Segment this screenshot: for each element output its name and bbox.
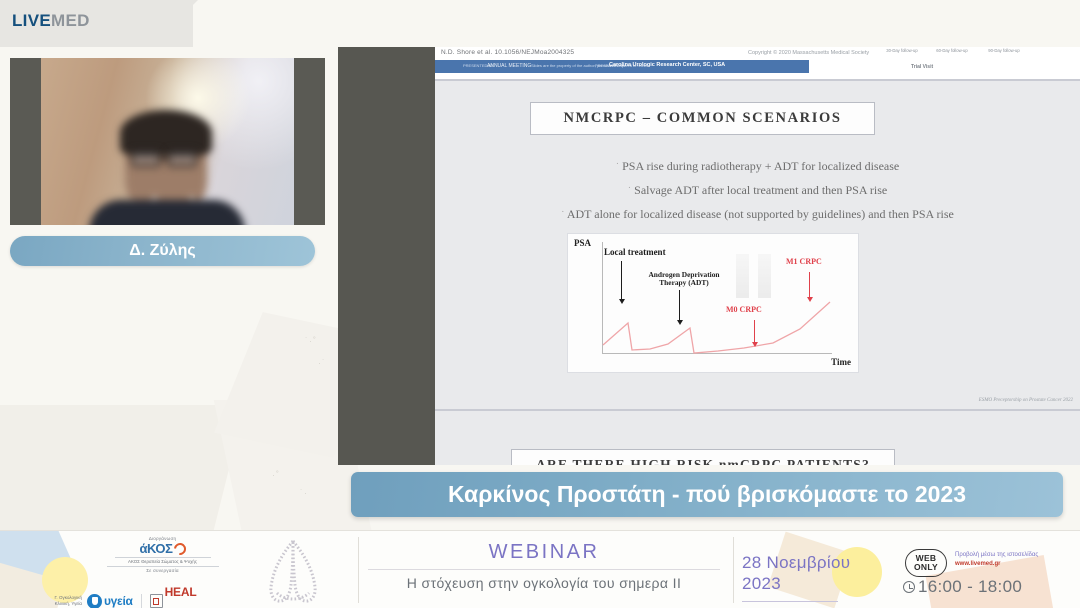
event-date: 28 Νοεμβρίου 2023 [742,553,850,594]
conference-tag-meeting: ANNUAL MEETING [487,63,531,69]
decor-speckle-1: ˙·˚ [305,336,317,346]
site-note-text: Προβολή μέσω της ιστοσελίδας [955,551,1038,560]
slide-title-text: NMCRPC – COMMON SCENARIOS [563,110,841,127]
psa-kinetics-chart: PSA Time Local treatment Androgen Depriv… [567,233,859,373]
akos-divider [115,557,211,558]
decor-speckle-3: ·˚ [272,470,280,480]
bullet-dot-icon: ˙ [616,162,619,173]
annotation-adt: Androgen Deprivation Therapy (ADT) [642,271,726,288]
arrow-adt-icon [679,290,680,320]
ygeia-mark-icon [87,594,102,608]
slide-title-box: NMCRPC – COMMON SCENARIOS [530,102,875,135]
bullet-dot-icon: ˙ [561,210,564,221]
arrow-m0-crpc-icon [754,320,755,342]
slide-bullet-2-text: Salvage ADT after local treatment and th… [634,183,887,197]
decor-speckle-4: ˙· [300,488,308,498]
trial-visit-label: Trial Visit [911,64,933,70]
event-footer: Διοργάνωση άΚΟΣ ΑΚΟΣ Θεραπεία Σώματος & … [0,530,1080,608]
arrow-local-treatment-icon [621,261,622,299]
partner-logos: Γ. Ογκολογική Κλινική, Υγεία υγεία HEAL … [40,583,340,608]
slide-bullet-3-text: ADT alone for localized disease (not sup… [567,207,954,221]
footer-divider-right [733,537,734,603]
logo-med-text: MED [51,11,90,30]
slide-attribution: ESMO Preceptorship on Prostate Cancer 20… [979,398,1073,403]
oncology-clinic-label: Γ. Ογκολογική Κλινική, Υγεία [40,595,82,607]
ygeia-logo-text: υγεία [104,594,133,608]
heal-mark-icon [150,594,163,608]
speaker-torso [89,200,245,225]
footer-divider-left [358,537,359,603]
akos-logo: άΚΟΣ [100,542,225,555]
webinar-block: WEBINAR Η στόχευση στην ογκολογία του ση… [368,541,720,591]
event-time-text: 16:00 - 18:00 [918,577,1022,597]
bullet-dot-icon: ˙ [628,186,631,197]
arrow-m1-crpc-icon [809,272,810,297]
eyeglasses-bridge [160,156,168,159]
webcam-feed [41,58,294,225]
webinar-subtitle: Η στόχευση στην ογκολογία του σημερα II [368,575,720,591]
slide-bullet-1: ˙ PSA rise during radiotherapy + ADT for… [435,159,1080,174]
ygeia-logo[interactable]: υγεία [87,594,133,608]
collaboration-label: Σε συνεργασία [100,568,225,573]
slide-question-box: ARE THERE HIGH RISK nmCRPC PATIENTS? [511,449,895,465]
bone-scan-image-2 [758,254,771,298]
presentation-slide[interactable]: N.D. Shore et al. 10.1056/NEJMoa2004325 … [435,47,1080,465]
annotation-m0-crpc: M0 CRPC [726,306,762,315]
presentation-stage[interactable]: N.D. Shore et al. 10.1056/NEJMoa2004325 … [338,47,1080,465]
akos-divider-2 [107,566,219,567]
livemed-logo[interactable]: LIVEMED [12,11,90,31]
event-date-line2: 2023 [742,574,850,595]
heal-logo-text: HEAL [165,585,197,599]
bone-scan-image-1 [736,254,749,298]
webinar-divider [368,569,720,570]
akos-organizer-block: Διοργάνωση άΚΟΣ ΑΚΟΣ Θεραπεία Σώματος & … [100,536,225,573]
date-underline [742,601,838,602]
webinar-label: WEBINAR [368,541,720,564]
header-band-corner [150,0,198,47]
annotation-m1-crpc: M1 CRPC [786,258,822,267]
akos-swirl-icon [171,540,188,557]
slide-bullet-3: ˙ ADT alone for localized disease (not s… [435,207,1080,222]
akos-tagline: ΑΚΟΣ Θεραπεία Σώματος & Ψυχής [100,559,225,564]
article-reference: N.D. Shore et al. 10.1056/NEJMoa2004325 [441,49,574,56]
slide-bullet-1-text: PSA rise during radiotherapy + ADT for l… [622,159,899,173]
copyright-text: Copyright © 2020 Massachusetts Medical S… [748,50,869,56]
session-title-banner: Καρκίνος Προστάτη - πού βρισκόμαστε το 2… [351,472,1063,517]
web-only-line2: ONLY [914,563,938,572]
heal-logo[interactable]: HEAL Academy by HHG [150,583,197,608]
followup-label-60day: 60-Day follow-up [935,48,969,53]
clock-icon [903,581,915,593]
akos-logo-text: άΚΟΣ [139,542,172,555]
session-title-text: Καρκίνος Προστάτη - πού βρισκόμαστε το 2… [448,481,966,508]
speaker-name-badge: Δ. Ζύλης [10,236,315,266]
speaker-video-card[interactable]: Δ. Ζύλης [10,58,325,266]
video-frame[interactable] [10,58,325,225]
followup-label-30day: 30-Day follow-up [885,48,919,53]
event-date-line1: 28 Νοεμβρίου [742,553,850,574]
site-note: Προβολή μέσω της ιστοσελίδας www.livemed… [955,551,1038,568]
logo-live-text: LIVE [12,11,51,30]
eyeglasses-right-lens [167,150,197,167]
event-time: 16:00 - 18:00 [903,577,1022,597]
decor-speckle-2: ·˙ [318,358,326,368]
slide-question-text: ARE THERE HIGH RISK nmCRPC PATIENTS? [536,457,870,466]
header-divider [435,79,1080,81]
web-only-badge: WEB ONLY [905,549,947,577]
slide-divider [435,409,1080,411]
partner-divider [141,594,142,608]
speaker-name-text: Δ. Ζύλης [129,242,195,260]
journal-header-strip: N.D. Shore et al. 10.1056/NEJMoa2004325 … [435,47,1080,79]
followup-label-90day: 90-Day follow-up [987,48,1021,53]
research-center-name: Carolina Urologic Research Center, SC, U… [609,62,725,68]
site-url[interactable]: www.livemed.gr [955,560,1038,569]
annotation-local-treatment: Local treatment [604,247,666,257]
eyeglasses-left-lens [131,150,161,167]
slide-bullet-2: ˙ Salvage ADT after local treatment and … [435,183,1080,198]
